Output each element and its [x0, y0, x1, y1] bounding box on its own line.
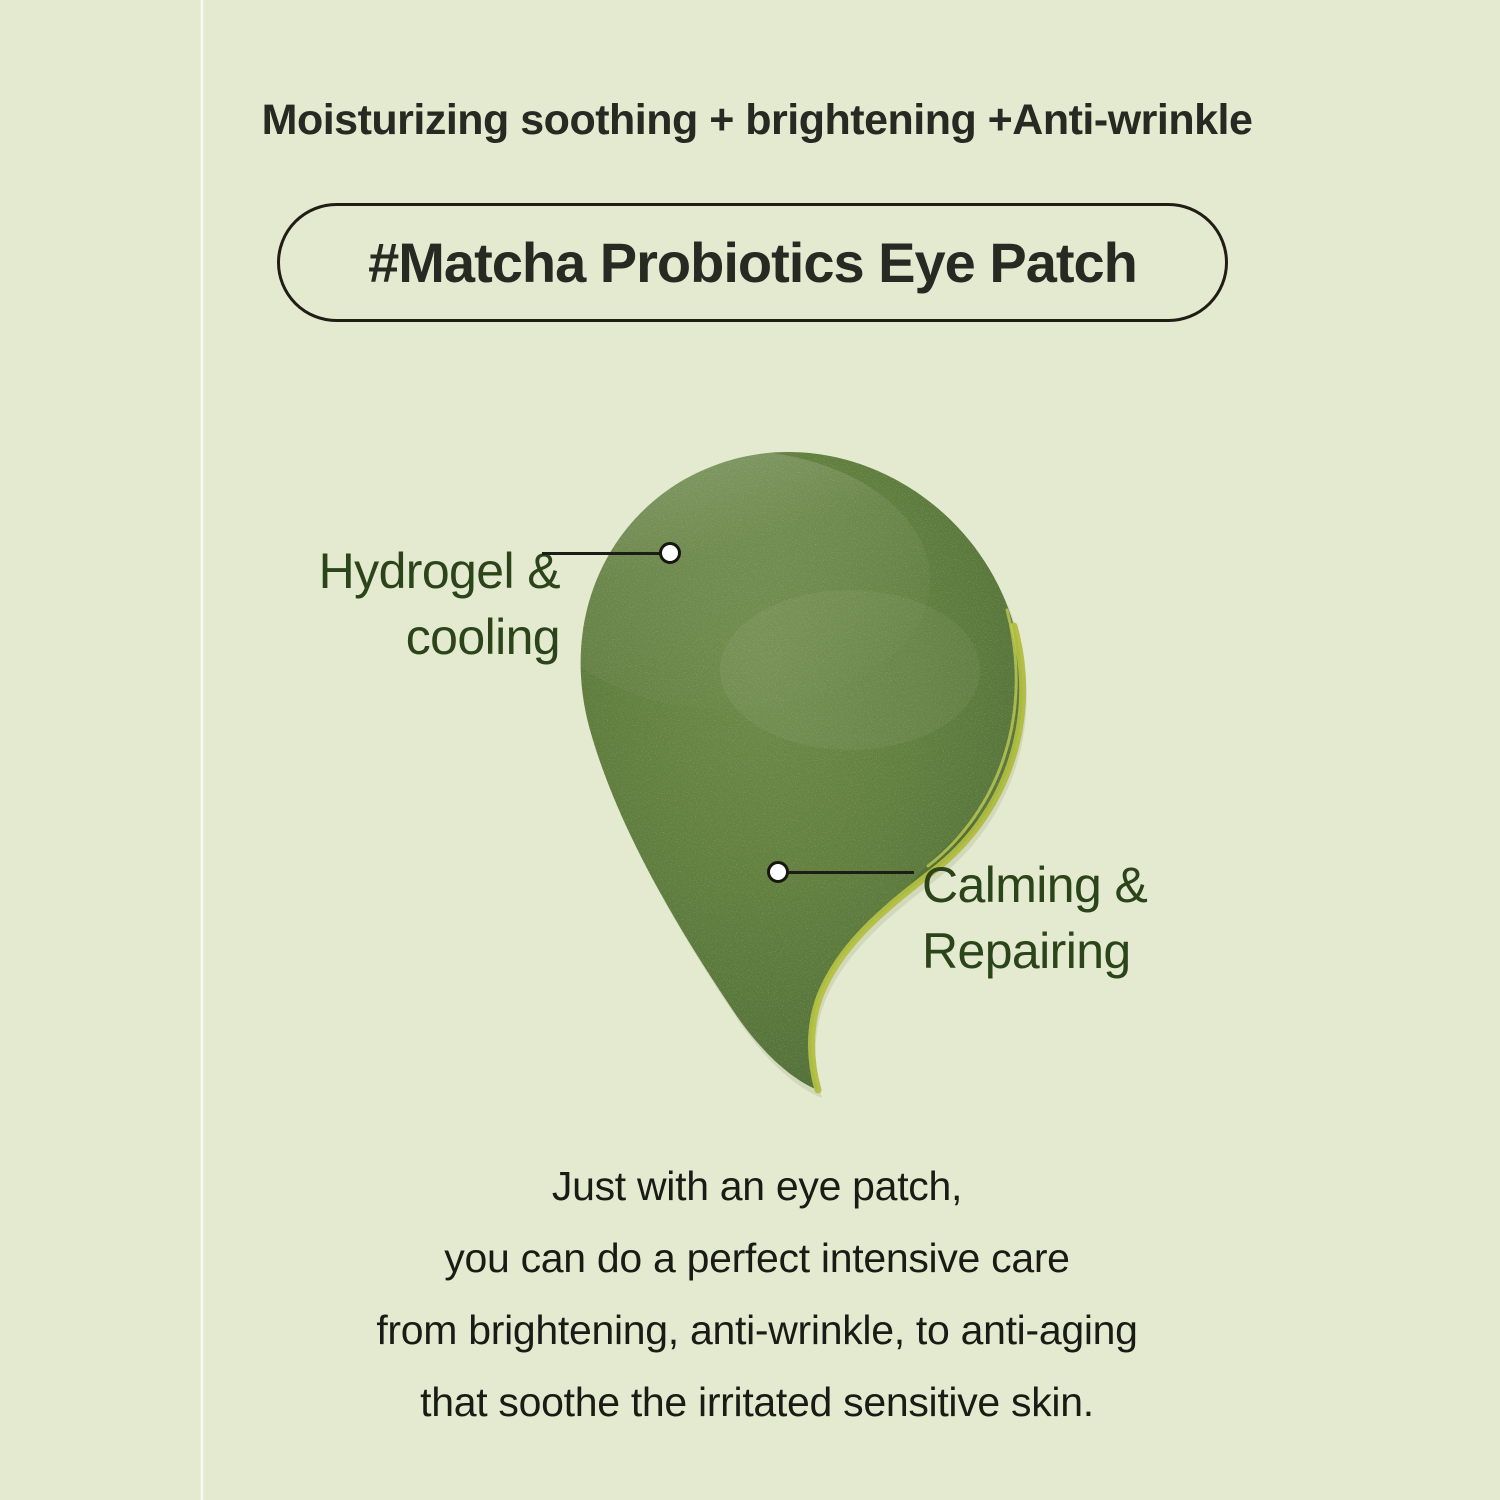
leader-dot-left: [659, 542, 681, 564]
product-title-text: #Matcha Probiotics Eye Patch: [280, 206, 1225, 319]
product-title-badge: #Matcha Probiotics Eye Patch: [277, 203, 1228, 322]
leader-line-right: [782, 871, 914, 874]
product-detail-image: Moisturizing soothing + brightening +Ant…: [0, 0, 1500, 1500]
callout-line: Repairing: [922, 923, 1131, 979]
callout-line: Calming &: [922, 857, 1147, 913]
body-copy-line: that soothe the irritated sensitive skin…: [14, 1366, 1500, 1438]
callout-hydrogel-cooling: Hydrogel & cooling: [180, 538, 560, 670]
body-copy-line: you can do a perfect intensive care: [14, 1222, 1500, 1294]
body-copy-line: Just with an eye patch,: [14, 1150, 1500, 1222]
leader-line-left: [542, 552, 670, 555]
callout-calming-repairing: Calming & Repairing: [922, 852, 1342, 984]
callout-line: cooling: [406, 609, 560, 665]
body-copy-line: from brightening, anti-wrinkle, to anti-…: [14, 1294, 1500, 1366]
callout-line: Hydrogel &: [319, 543, 560, 599]
eye-patch-image: [520, 430, 1060, 1120]
body-copy: Just with an eye patch, you can do a per…: [0, 1150, 1500, 1438]
leader-dot-right: [767, 861, 789, 883]
tagline-text: Moisturizing soothing + brightening +Ant…: [0, 96, 1500, 145]
eye-patch-illustration: [520, 430, 1060, 1120]
